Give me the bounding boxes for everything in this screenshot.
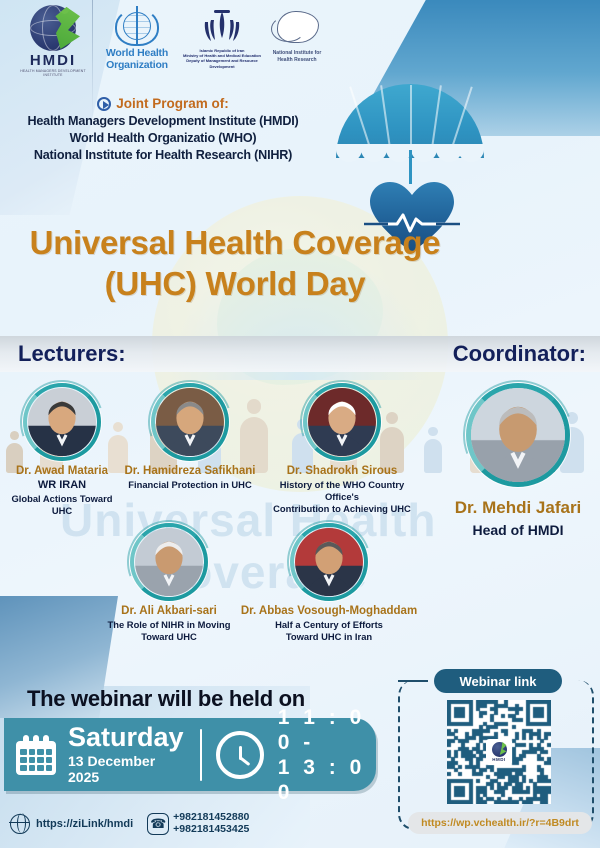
phone-icon: ☎ — [147, 813, 169, 835]
lecturer-topic: Half a Century of Efforts Toward UHC in … — [240, 619, 418, 643]
avatar — [308, 388, 376, 456]
joint-program-block: Joint Program of: Health Managers Develo… — [8, 96, 318, 162]
webinar-link-box-top-left — [398, 680, 428, 682]
lecturer-name: Dr. Abbas Vosough-Moghaddam — [240, 605, 418, 617]
iran-emblem-icon — [200, 8, 244, 46]
globe-icon — [10, 814, 30, 834]
hmdi-globe-icon — [30, 5, 76, 51]
webinar-link-pill: Webinar link — [434, 669, 562, 693]
phone-number-2: +982181453425 — [173, 824, 249, 836]
coordinator-card: Dr. Mehdi Jafari Head of HMDI — [438, 388, 598, 538]
logo-nihr: National Institute for Health Research — [255, 8, 339, 64]
calendar-icon — [16, 735, 56, 775]
lecturer-card-2: Dr. Hamidreza Safikhani Financial Protec… — [120, 388, 260, 491]
lecturer-topic: Financial Protection in UHC — [120, 479, 260, 491]
schedule-divider — [200, 729, 202, 781]
moh-line3: Deputy of Management and Resource Develo… — [178, 58, 266, 68]
poster-root: Universal Health Coverage HMDI HEALTH MA… — [0, 0, 600, 848]
contact-bar: https://ziLink/hmdi ☎ +982181452880 +982… — [10, 812, 249, 835]
schedule-day: Saturday — [68, 724, 184, 751]
lecturer-topic: The Role of NIHR in Moving Toward UHC — [96, 619, 242, 643]
schedule-date-block: Saturday 13 December 2025 — [68, 724, 184, 785]
lecturer-topic: History of the WHO Country Office's Cont… — [262, 479, 422, 515]
phone-number-1: +982181452880 — [173, 812, 249, 824]
joint-program-title-row: Joint Program of: — [8, 96, 318, 111]
schedule-banner: Saturday 13 December 2025 1 1 : 0 0 - 1 … — [4, 718, 376, 791]
avatar — [471, 388, 565, 482]
lecturer-card-5: Dr. Abbas Vosough-Moghaddam Half a Centu… — [240, 528, 418, 643]
phone-numbers: +982181452880 +982181453425 — [173, 812, 249, 835]
webinar-url[interactable]: https://wp.vchealth.ir/?r=4B9drt — [408, 812, 592, 834]
logo-who: World Health Organization — [96, 6, 178, 71]
logo-strip: HMDI HEALTH MANAGERS DEVELOPMENT INSTITU… — [0, 0, 600, 78]
clock-icon — [216, 731, 264, 779]
avatar — [28, 388, 96, 456]
lecturer-name: Dr. Shadrokh Sirous — [262, 465, 422, 477]
hmdi-subtext: HEALTH MANAGERS DEVELOPMENT INSTITUTE — [14, 69, 92, 77]
avatar — [135, 528, 203, 596]
iran-map-icon — [271, 8, 323, 50]
schedule-time-end: 1 3 : 0 0 — [278, 755, 376, 805]
joint-program-line-2: World Health Organizatio (WHO) — [8, 131, 318, 145]
lecturers-heading: Lecturers: — [18, 341, 126, 367]
page-title-line2: (UHC) World Day — [0, 263, 470, 304]
joint-program-line-1: Health Managers Development Institute (H… — [8, 114, 318, 128]
lecturer-name: Dr. Awad Mataria — [2, 465, 122, 477]
who-emblem-icon — [111, 6, 163, 48]
logo-ministry-of-health: Islamic Republic of Iran Ministry of Hea… — [178, 8, 266, 69]
logo-hmdi: HMDI HEALTH MANAGERS DEVELOPMENT INSTITU… — [14, 5, 92, 77]
lecturer-role: WR IRAN — [2, 479, 122, 491]
website-link[interactable]: https://ziLink/hmdi — [36, 818, 133, 830]
coordinator-role: Head of HMDI — [438, 522, 598, 538]
lecturer-card-1: Dr. Awad Mataria WR IRAN Global Actions … — [2, 388, 122, 517]
play-circle-icon — [97, 97, 111, 111]
schedule-time-block: 1 1 : 0 0 - 1 3 : 0 0 — [278, 705, 376, 805]
hmdi-wordmark: HMDI — [14, 52, 92, 69]
lecturer-card-3: Dr. Shadrokh Sirous History of the WHO C… — [262, 388, 422, 515]
qr-center-logo: HMDI — [486, 739, 512, 765]
avatar — [156, 388, 224, 456]
umbrella-heart-graphic — [330, 78, 490, 218]
qr-code[interactable]: HMDI — [447, 700, 551, 804]
coordinator-name: Dr. Mehdi Jafari — [438, 498, 598, 518]
joint-program-title: Joint Program of: — [116, 96, 229, 111]
schedule-date: 13 December 2025 — [68, 753, 184, 785]
avatar — [295, 528, 363, 596]
who-line1: World Health — [96, 48, 178, 60]
schedule-time-start: 1 1 : 0 0 - — [278, 705, 376, 755]
hmdi-globe-icon-small — [492, 742, 507, 757]
who-line2: Organization — [96, 60, 178, 72]
page-title-line1: Universal Health Coverage — [0, 222, 470, 263]
qr-logo-text: HMDI — [492, 757, 506, 762]
lecturer-topic: Global Actions Toward UHC — [2, 493, 122, 517]
nihr-line2: Health Research — [255, 57, 339, 64]
page-title: Universal Health Coverage (UHC) World Da… — [0, 222, 470, 304]
lecturer-card-4: Dr. Ali Akbari-sari The Role of NIHR in … — [96, 528, 242, 643]
coordinator-heading: Coordinator: — [453, 341, 586, 367]
schedule-heading: The webinar will be held on — [27, 686, 305, 712]
lecturer-name: Dr. Ali Akbari-sari — [96, 605, 242, 617]
lecturer-name: Dr. Hamidreza Safikhani — [120, 465, 260, 477]
joint-program-line-3: National Institute for Health Research (… — [8, 148, 318, 162]
nihr-line1: National Institute for — [255, 50, 339, 57]
